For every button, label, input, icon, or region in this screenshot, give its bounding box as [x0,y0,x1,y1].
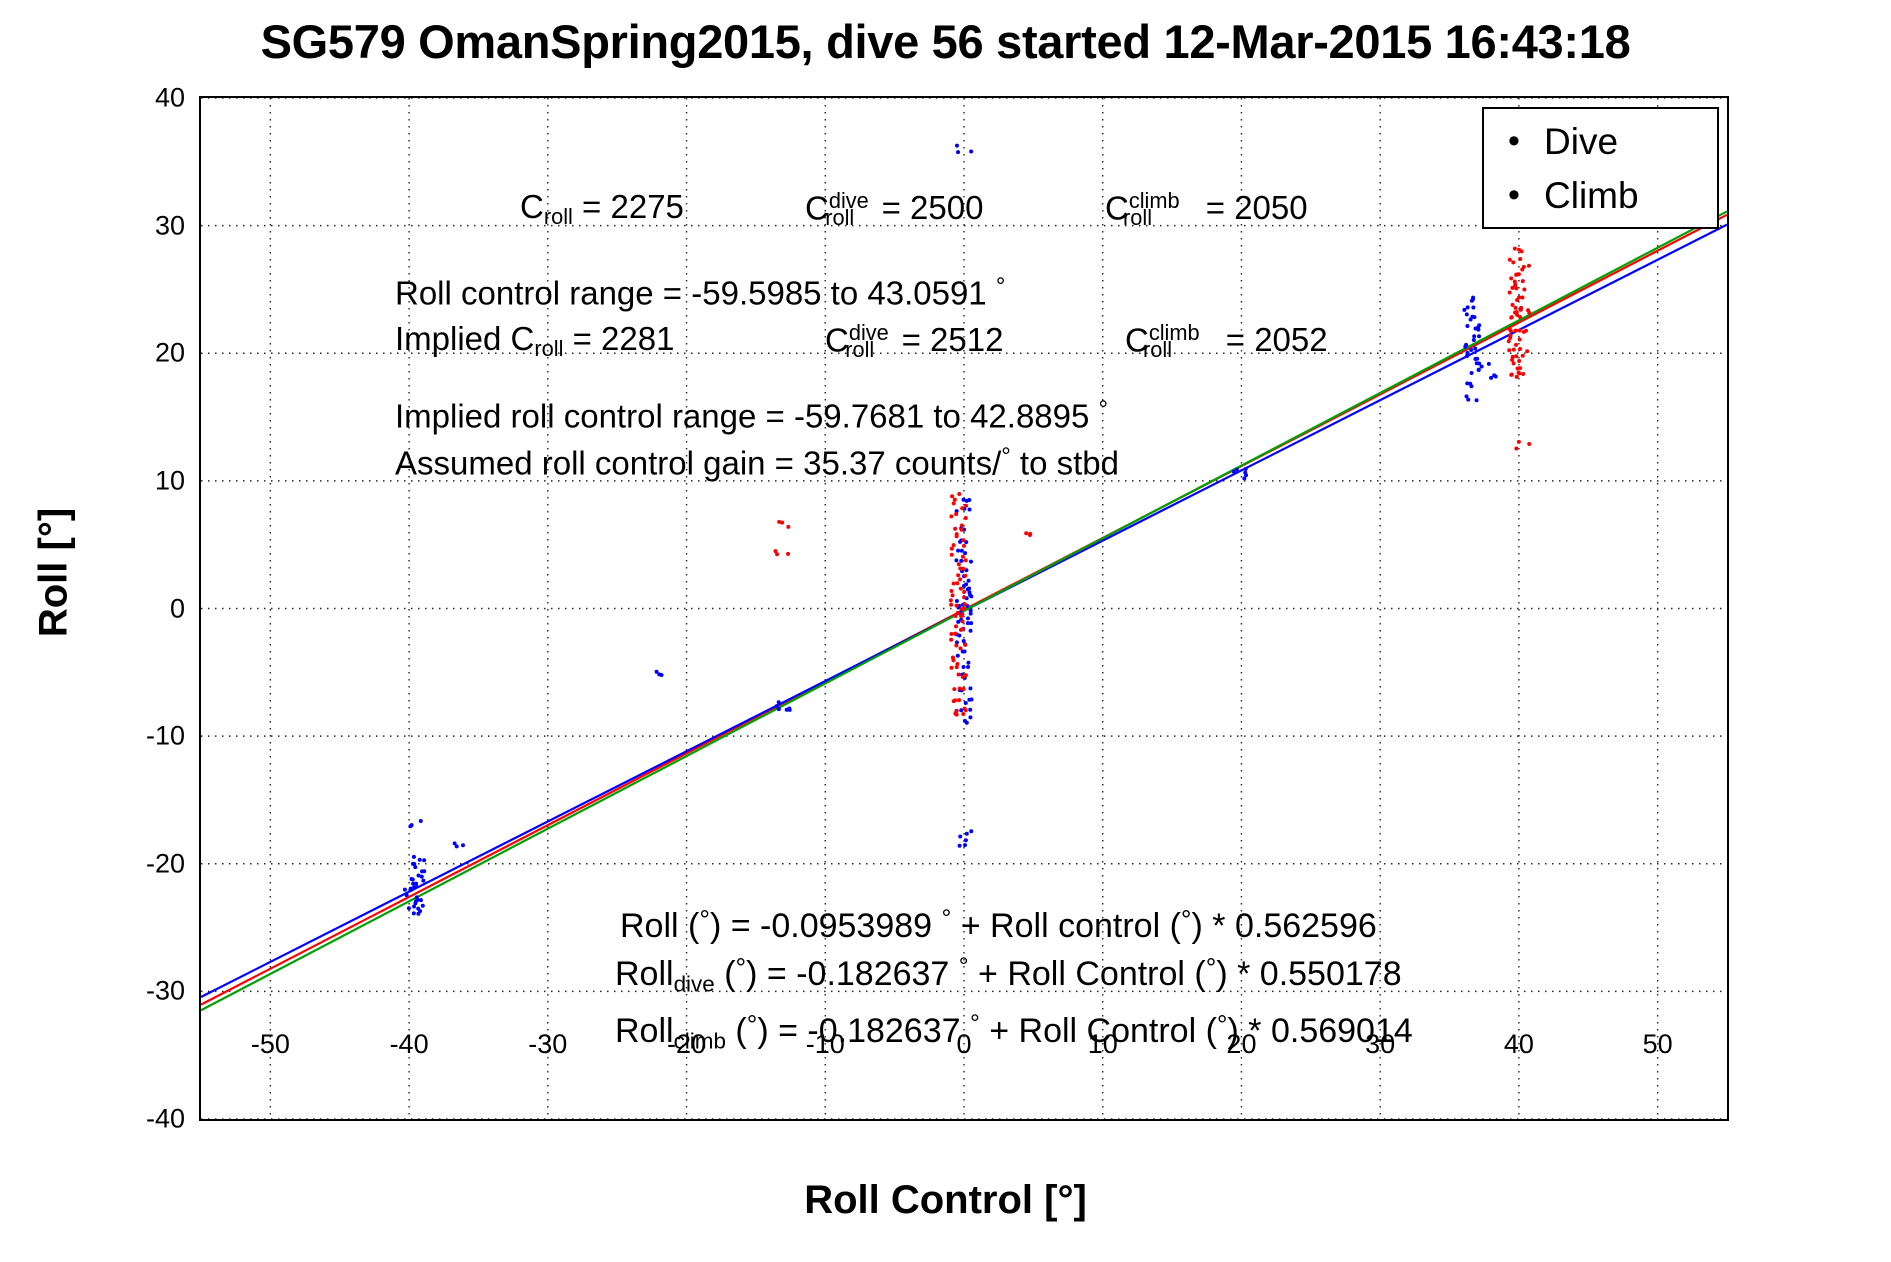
data-point [1024,531,1028,535]
data-point [959,614,963,618]
data-point [955,144,959,148]
data-point [1518,347,1522,351]
annotation-c-roll: Croll = 2275 [520,190,684,228]
data-point [1508,290,1512,294]
data-point [956,573,960,577]
data-point [968,686,972,690]
data-point [952,687,956,691]
annotation-roll-control-range: Roll control range = -59.5985 to 43.0591… [395,275,1005,310]
data-point [954,614,958,618]
data-point [955,599,959,603]
data-point [1521,354,1525,358]
equation-roll-all: Roll (°) = -0.0953989 ° + Roll control (… [620,907,1377,943]
data-point [1509,276,1513,280]
x-axis-label: Roll Control [°] [0,1178,1891,1223]
data-point [968,593,972,597]
legend-label-dive: Dive [1544,121,1618,163]
data-point [949,638,953,642]
data-point [775,552,779,556]
data-point [965,721,969,725]
data-point [949,603,953,607]
data-point [1462,308,1466,312]
data-point [950,553,954,557]
data-point [957,562,961,566]
data-point [403,888,407,892]
data-point [419,819,423,823]
data-point [1492,373,1496,377]
x-tick-label: -50 [251,1029,290,1060]
data-point [955,532,959,536]
data-point [1475,398,1479,402]
data-point [963,574,967,578]
data-point [1480,365,1484,369]
implied-prefix: Implied C [395,320,534,357]
data-point [1028,532,1032,536]
eq-all-mid2: + Roll control ( [951,907,1181,945]
data-point [461,843,465,847]
x-tick-label: -20 [667,1029,706,1060]
data-point [950,666,954,670]
data-point [1526,308,1530,312]
data-point [962,584,966,588]
degree-icon: ° [1001,443,1011,470]
x-tick-label: 30 [1365,1029,1395,1060]
degree-icon: ° [1206,953,1217,983]
data-point [1489,376,1493,380]
implied-c-roll-dive-sub: roll [845,337,874,362]
data-point [1244,467,1248,471]
degree-icon: ° [699,905,710,935]
eq-dive-post: ) * 0.550178 [1216,955,1401,993]
data-point [955,665,959,669]
data-point [1509,316,1513,320]
data-point [949,598,953,602]
data-point [1516,367,1520,371]
data-point [950,547,954,551]
data-point [1465,312,1469,316]
data-point [961,555,965,559]
data-point [1472,338,1476,342]
data-point [1470,371,1474,375]
eq-all-mid: ) = -0.0953989 [710,907,942,945]
data-point [1519,308,1523,312]
data-point [413,865,417,869]
equation-roll-dive: Rolldive (°) = -0.182637 ° + Roll Contro… [615,955,1402,996]
annotation-c-roll-climb: Cclimbroll = 2050 [1105,190,1308,229]
data-point [959,587,963,591]
x-tick-label: 20 [1226,1029,1256,1060]
data-point [961,712,965,716]
data-point [949,514,953,518]
data-point [411,882,415,886]
data-point [1527,442,1531,446]
x-tick-label: 50 [1643,1029,1673,1060]
data-point [950,589,954,593]
data-point [412,905,416,909]
data-point [964,504,968,508]
data-point [1466,305,1470,309]
eq-dive-mid2: + Roll Control ( [969,955,1206,993]
data-point [412,855,416,859]
data-point [960,549,964,553]
degree-icon: ° [1099,396,1109,423]
legend-label-climb: Climb [1544,175,1639,217]
data-point [780,521,784,525]
data-point [955,581,959,585]
data-point [956,654,960,658]
data-point [409,887,413,891]
annotation-implied-c-roll-climb: Cclimbroll = 2052 [1125,322,1328,361]
data-point [963,649,967,653]
data-point [952,543,956,547]
data-point [968,708,972,712]
degree-icon: ° [996,273,1006,300]
data-point [777,707,781,711]
data-point [1473,315,1477,319]
data-point [963,551,967,555]
c-roll-dive-sub: roll [825,205,854,230]
data-point [957,492,961,496]
data-point [1518,328,1522,332]
data-point [1465,381,1469,385]
data-point [954,558,958,562]
data-point [1512,348,1516,352]
data-point [964,558,968,562]
y-tick-label: 40 [87,83,185,114]
data-point [1507,348,1511,352]
eq-dive-mid: ) = -0.182637 [746,955,959,993]
data-point [1513,247,1517,251]
data-point [1514,306,1518,310]
data-point [954,624,958,628]
data-point [1511,260,1515,264]
data-point [958,835,962,839]
data-point [962,538,966,542]
data-point [967,579,971,583]
data-point [962,595,966,599]
data-point [953,527,957,531]
data-point [962,590,966,594]
y-tick-label: -40 [87,1104,185,1135]
y-tick-label: -20 [87,848,185,879]
annotation-assumed-gain: Assumed roll control gain = 35.37 counts… [395,445,1119,480]
data-point [1511,355,1515,359]
data-point [1518,338,1522,342]
data-point [1487,362,1491,366]
data-point [1508,333,1512,337]
data-point [966,616,970,620]
data-point [954,512,958,516]
data-point [1508,258,1512,262]
data-point [958,577,962,581]
data-point [949,632,953,636]
x-tick-label: -40 [390,1029,429,1060]
implied-roll-control-range-text: Implied roll control range = -59.7681 to… [395,398,1099,435]
data-point [960,523,964,527]
data-point [951,593,955,597]
data-point [1514,354,1518,358]
data-point [962,607,966,611]
data-point [951,658,955,662]
data-point [961,619,965,623]
data-point [405,893,409,897]
degree-icon: ° [1181,905,1192,935]
degree-icon: ° [736,953,747,983]
data-point [1244,473,1248,477]
data-point [408,824,412,828]
data-point [1477,334,1481,338]
data-point [969,629,973,633]
implied-c-roll-value: = 2281 [563,320,674,357]
x-tick-label: 40 [1504,1029,1534,1060]
data-point [1514,329,1518,333]
data-point [962,687,966,691]
assumed-gain-post: to stbd [1011,445,1119,482]
data-point [959,628,963,632]
c-roll-symbol: C [520,188,544,225]
data-point [655,670,659,674]
data-point [1469,384,1473,388]
data-point [421,879,425,883]
data-point [963,643,967,647]
data-point [956,150,960,154]
data-point [1520,268,1524,272]
data-point [959,646,963,650]
data-point [959,559,963,563]
data-point [453,841,457,845]
data-point [969,612,973,616]
roll-control-range-text: Roll control range = -59.5985 to 43.0591 [395,275,996,312]
degree-icon: ° [747,1010,758,1040]
data-point [1470,299,1474,303]
data-point [418,858,422,862]
data-point [969,829,973,833]
data-point [957,633,961,637]
x-tick-label: -10 [806,1029,845,1060]
annotation-implied-c-roll-dive: Cdiveroll = 2512 [825,322,1003,361]
data-point [1517,359,1521,363]
data-point [1512,361,1516,365]
c-roll-climb-sub: roll [1123,205,1152,230]
data-point [953,698,957,702]
data-point [1525,349,1529,353]
data-point [966,665,970,669]
data-point [407,906,411,910]
data-point [963,602,967,606]
data-point [786,525,790,529]
data-point [1515,375,1519,379]
data-point [953,632,957,636]
data-point [1473,347,1477,351]
y-tick-label: 30 [87,210,185,241]
data-point [956,549,960,553]
y-axis-label: Roll [°] [32,223,77,923]
c-roll-climb-value: = 2050 [1197,189,1308,226]
c-roll-sub: roll [544,204,573,229]
data-point [1518,257,1522,261]
data-point [957,698,961,702]
data-point [960,506,964,510]
data-point [409,877,413,881]
eq-all-pre: Roll ( [620,907,699,945]
eq-climb-paren: ( [726,1012,747,1050]
y-tick-label: 10 [87,465,185,496]
data-point [966,621,970,625]
data-point [952,582,956,586]
data-point [1471,306,1475,310]
data-point [954,643,958,647]
data-point [964,673,968,677]
climb-marker-icon: • [1484,189,1544,203]
degree-icon: ° [959,953,969,980]
data-point [969,150,973,154]
data-point [1520,249,1524,253]
data-point [1510,372,1514,376]
annotation-c-roll-dive: Cdiveroll = 2500 [805,190,983,229]
data-point [1469,348,1473,352]
data-point [963,843,967,847]
data-point [1521,279,1525,283]
data-point [955,713,959,717]
c-roll-dive-value: = 2500 [872,189,983,226]
data-point [1522,330,1526,334]
data-point [962,544,966,548]
data-point [968,508,972,512]
y-tick-label: 20 [87,338,185,369]
data-point [1514,343,1518,347]
x-tick-label: 0 [956,1029,971,1060]
degree-icon: ° [942,905,952,932]
implied-c-roll-climb-sub: roll [1143,337,1172,362]
data-point [964,516,968,520]
data-point [417,874,421,878]
data-point [968,715,972,719]
data-point [952,501,956,505]
data-point [961,567,965,571]
data-point [966,661,970,665]
data-point [964,701,968,705]
annotation-implied-roll-control-range: Implied roll control range = -59.7681 to… [395,398,1108,433]
data-point [1469,317,1473,321]
annotation-implied-c-roll: Implied Croll = 2281 [395,322,674,360]
data-point [955,604,959,608]
data-point [1507,339,1511,343]
data-point [964,838,968,842]
x-tick-label: -30 [528,1029,567,1060]
data-point [412,911,416,915]
data-point [958,844,962,848]
assumed-gain-pre: Assumed roll control gain = 35.37 counts… [395,445,1001,482]
scatter-series-dive [403,144,1498,916]
data-point [786,552,790,556]
eq-dive-pre: Roll [615,955,674,993]
implied-c-roll-sub: roll [534,336,563,361]
equation-roll-climb: Rollclimb (°) = -0.182637 ° + Roll Contr… [615,1012,1413,1053]
data-point [1477,368,1481,372]
data-point [1472,334,1476,338]
data-point [1465,351,1469,355]
data-point [1527,264,1531,268]
eq-climb-pre: Roll [615,1012,674,1050]
data-point [1521,372,1525,376]
data-point [965,832,969,836]
data-point [1465,324,1469,328]
legend: • Dive • Climb [1482,107,1719,229]
legend-item-dive[interactable]: • Dive [1484,117,1717,167]
eq-dive-sub: dive [674,971,715,996]
eq-dive-paren: ( [715,955,736,993]
data-point [1463,345,1467,349]
data-point [950,494,954,498]
data-point [421,904,425,908]
y-tick-label: -30 [87,976,185,1007]
data-point [957,673,961,677]
data-point [1232,469,1236,473]
data-point [962,498,966,502]
data-point [1515,298,1519,302]
y-tick-label: -10 [87,721,185,752]
data-point [1514,273,1518,277]
data-point [1517,440,1521,444]
data-point [416,907,420,911]
data-point [1514,447,1518,451]
data-point [422,858,426,862]
data-point [958,686,962,690]
data-point [964,708,968,712]
eq-climb-mid: ) = -0.182637 [757,1012,970,1050]
data-point [422,869,426,873]
legend-item-climb[interactable]: • Climb [1484,171,1717,221]
data-point [967,587,971,591]
x-tick-label: 10 [1088,1029,1118,1060]
data-point [1474,327,1478,331]
data-point [1511,303,1515,307]
data-point [1509,329,1513,333]
data-point [967,698,971,702]
data-point [969,560,973,564]
data-point [953,498,957,502]
data-point [1517,371,1521,375]
data-point [419,898,423,902]
page-title: SG579 OmanSpring2015, dive 56 started 12… [0,14,1891,69]
dive-marker-icon: • [1484,135,1544,149]
y-tick-label: 0 [87,593,185,624]
data-point [788,708,792,712]
data-point [960,528,964,532]
implied-c-roll-dive-value: = 2512 [892,321,1003,358]
data-point [1522,288,1526,292]
roll-calibration-figure: SG579 OmanSpring2015, dive 56 started 12… [0,0,1891,1262]
eq-all-post: ) * 0.562596 [1192,907,1377,945]
data-point [1475,357,1479,361]
data-point [777,700,781,704]
data-point [962,665,966,669]
data-point [1518,315,1522,319]
c-roll-value: = 2275 [573,188,684,225]
data-point [1515,310,1519,314]
data-point [1466,398,1470,402]
data-point [1475,361,1479,365]
data-point [1513,282,1517,286]
implied-c-roll-climb-value: = 2052 [1217,321,1328,358]
